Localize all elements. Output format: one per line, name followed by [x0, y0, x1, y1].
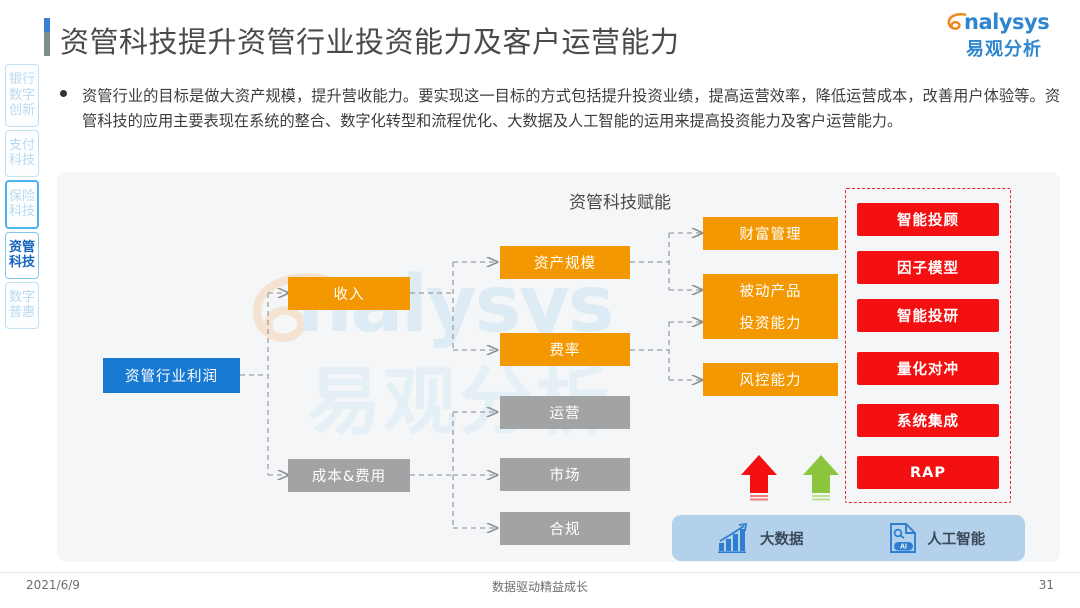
node-label: 运营	[550, 402, 581, 423]
analysys-logo: nalysys 易观分析	[944, 10, 1064, 62]
node-label: 智能投顾	[897, 209, 959, 230]
node-risk-control-capability[interactable]: 风控能力	[703, 363, 838, 396]
green-up-arrow-icon	[800, 453, 842, 503]
node-quant-hedging[interactable]: 量化对冲	[857, 352, 999, 385]
side-tab-label: 银行数字创新	[6, 72, 38, 119]
bar-chart-growth-icon	[717, 523, 751, 553]
node-system-integration[interactable]: 系统集成	[857, 404, 999, 437]
node-revenue[interactable]: 收入	[288, 277, 410, 310]
node-rap[interactable]: RAP	[857, 456, 999, 489]
title-accent-bar	[44, 18, 50, 32]
node-passive-products[interactable]: 被动产品	[703, 274, 838, 307]
node-label: 被动产品	[740, 280, 802, 301]
side-tab-inclusive-finance[interactable]: 数字普惠	[5, 282, 39, 329]
node-compliance[interactable]: 合规	[500, 512, 630, 545]
capability-label: 人工智能	[927, 528, 985, 549]
node-label: 系统集成	[897, 410, 959, 431]
side-tab-list: 银行数字创新 支付科技 保险科技 资管科技 数字普惠	[5, 64, 39, 332]
node-smart-research[interactable]: 智能投研	[857, 299, 999, 332]
node-root-profit[interactable]: 资管行业利润	[103, 358, 240, 393]
capability-panel: 大数据 AI 人工智能	[672, 515, 1025, 561]
node-label: 资产规模	[534, 252, 596, 273]
red-up-arrow-icon	[738, 453, 780, 503]
node-investment-capability[interactable]: 投资能力	[703, 306, 838, 339]
side-tab-asset-management[interactable]: 资管科技	[5, 232, 39, 279]
side-tab-payment[interactable]: 支付科技	[5, 130, 39, 177]
node-operations[interactable]: 运营	[500, 396, 630, 429]
node-market[interactable]: 市场	[500, 458, 630, 491]
node-label: 风控能力	[740, 369, 802, 390]
node-label: 量化对冲	[897, 358, 959, 379]
svg-text:AI: AI	[900, 544, 907, 551]
bullet-paragraph: 资管行业的目标是做大资产规模，提升营收能力。要实现这一目标的方式包括提升投资业绩…	[60, 84, 1060, 134]
node-label: 因子模型	[897, 257, 959, 278]
node-fee-rate[interactable]: 费率	[500, 333, 630, 366]
node-asset-scale[interactable]: 资产规模	[500, 246, 630, 279]
footer-divider	[0, 572, 1080, 573]
node-label: 收入	[334, 283, 365, 304]
node-label: 资管行业利润	[125, 365, 218, 386]
node-wealth-management[interactable]: 财富管理	[703, 217, 838, 250]
node-label: 投资能力	[740, 312, 802, 333]
node-label: 成本&费用	[312, 465, 386, 486]
bullet-text: 资管行业的目标是做大资产规模，提升营收能力。要实现这一目标的方式包括提升投资业绩…	[82, 84, 1060, 134]
node-label: 智能投研	[897, 305, 959, 326]
node-cost-expense[interactable]: 成本&费用	[288, 459, 410, 492]
capability-item-bigdata[interactable]: 大数据	[672, 523, 849, 553]
node-label: 财富管理	[740, 223, 802, 244]
page-title: 资管科技提升资管行业投资能力及客户运营能力	[60, 19, 680, 61]
node-label: 费率	[550, 339, 581, 360]
side-tab-label: 保险科技	[7, 189, 37, 220]
node-factor-model[interactable]: 因子模型	[857, 251, 999, 284]
side-tab-banking[interactable]: 银行数字创新	[5, 64, 39, 127]
side-tab-label: 支付科技	[6, 138, 38, 169]
node-robo-advisor[interactable]: 智能投顾	[857, 203, 999, 236]
title-accent-bar-lower	[44, 32, 50, 56]
logo-wordmark: nalysys	[964, 10, 1049, 34]
logo-chinese: 易观分析	[966, 35, 1042, 61]
capability-label: 大数据	[760, 528, 804, 549]
footer-slogan: 数据驱动精益成长	[0, 578, 1080, 595]
diagram-canvas: nalysys 易观分析 资管科技赋能	[57, 172, 1060, 562]
node-label: 合规	[550, 518, 581, 539]
footer-page-number: 31	[1039, 578, 1054, 592]
capability-item-ai[interactable]: AI 人工智能	[849, 522, 1026, 554]
side-tab-label: 数字普惠	[6, 290, 38, 321]
side-tab-insurance[interactable]: 保险科技	[5, 180, 39, 229]
ai-document-icon: AI	[888, 522, 918, 554]
node-label: 市场	[550, 464, 581, 485]
slide-page: 资管科技提升资管行业投资能力及客户运营能力 nalysys 易观分析 资管行业的…	[0, 0, 1080, 608]
node-label: RAP	[910, 465, 946, 481]
bullet-dot-icon	[60, 84, 82, 134]
side-tab-label: 资管科技	[6, 240, 38, 271]
